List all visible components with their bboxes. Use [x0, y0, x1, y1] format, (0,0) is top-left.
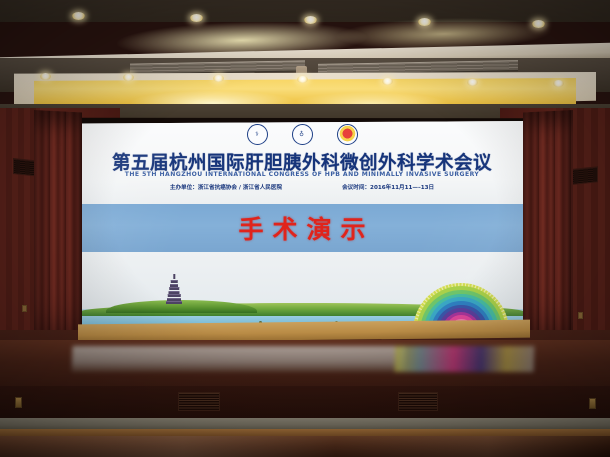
pagoda-tier [171, 280, 178, 283]
leifeng-pagoda-icon [166, 278, 183, 304]
aisle-light-right [589, 398, 596, 409]
logo-hospital-icon: ♁ [292, 124, 313, 145]
stage-curtain-right [523, 110, 573, 362]
organizer-text: 主办单位：浙江省抗癌协会 / 浙江省人民医院 [170, 183, 282, 191]
pagoda-spire [174, 274, 175, 279]
stage-front-vent [178, 392, 220, 411]
screen-reflection [72, 346, 535, 372]
stage-floor [0, 340, 610, 388]
wall-switch-left[interactable] [22, 305, 27, 312]
auditorium-photo: ⚕ ♁ 第五届杭州国际肝胆胰外科微创外科学术会议 THE 5TH HANGZHO… [0, 0, 610, 457]
ceiling-spotlight [382, 78, 393, 85]
stage-front-panel [0, 386, 610, 419]
logo-association-icon: ⚕ [247, 124, 268, 145]
pagoda-tier [166, 301, 182, 304]
congress-subtitle-row: 主办单位：浙江省抗癌协会 / 浙江省人民医院 会议时间：2016年11月11—–… [79, 183, 525, 191]
reflection-color [395, 346, 535, 372]
screen-header-area: ⚕ ♁ 第五届杭州国际肝胆胰外科微创外科学术会议 THE 5TH HANGZHO… [79, 121, 525, 204]
reflection-bright [72, 346, 406, 372]
ceiling-spotlight [467, 79, 478, 86]
session-banner-text: 手术演示 [229, 210, 374, 246]
pagoda-tier [170, 284, 178, 287]
wall-switch-right[interactable] [578, 312, 583, 319]
ceiling-spotlight [40, 73, 51, 80]
pagoda-tier [170, 287, 180, 290]
aisle-light-left [15, 397, 22, 408]
logo-emblem-icon [337, 124, 358, 145]
session-banner: 手术演示 [79, 204, 525, 252]
led-display-screen[interactable]: ⚕ ♁ 第五届杭州国际肝胆胰外科微创外科学术会议 THE 5TH HANGZHO… [79, 121, 525, 334]
stage-front-vent [398, 392, 438, 411]
pagoda-tier [168, 294, 181, 297]
stage-curtain-left [34, 110, 82, 362]
congress-title-english: THE 5TH HANGZHOU INTERNATIONAL CONGRESS … [79, 171, 525, 178]
house-floor [0, 436, 610, 457]
ceiling-spotlight [532, 20, 545, 28]
datetime-text: 会议时间：2016年11月11—–13日 [342, 183, 434, 191]
logo-row: ⚕ ♁ [79, 124, 525, 145]
pagoda-tier [167, 298, 181, 301]
ceiling-spotlight [418, 18, 431, 26]
pagoda-tier [169, 291, 180, 294]
ceiling-spotlight [123, 74, 134, 81]
